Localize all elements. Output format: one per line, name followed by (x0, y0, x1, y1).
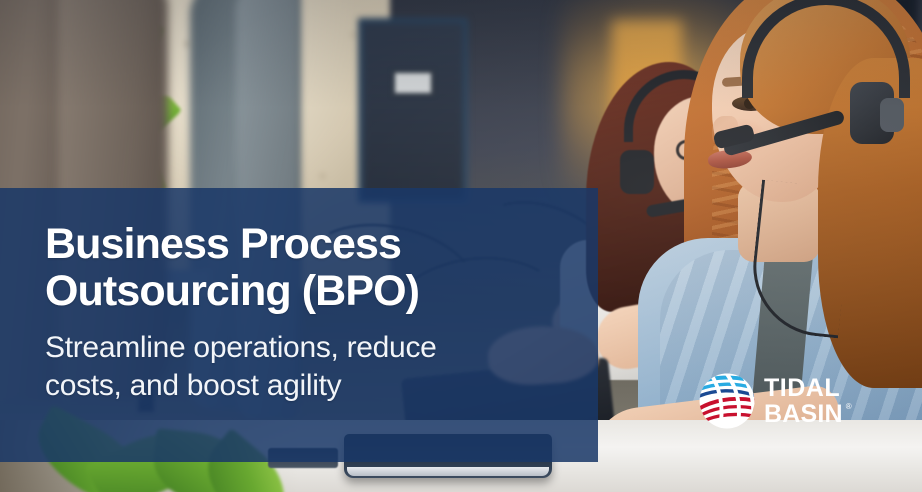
logo-line-tidal: TIDAL (764, 375, 843, 401)
office-door (358, 18, 468, 203)
tidal-basin-globe-icon (699, 373, 755, 429)
page-title: Business Process Outsourcing (BPO) (45, 221, 585, 315)
logo-line-basin-text: BASIN (764, 400, 843, 428)
page-subtitle: Streamline operations, reduce costs, and… (45, 329, 585, 405)
tidal-basin-logo[interactable]: TIDAL BASIN® (699, 373, 843, 429)
wall-picture (392, 70, 434, 96)
logo-line-basin: BASIN® (764, 401, 843, 427)
headset-earcup (620, 150, 654, 194)
bpo-hero-banner: Business Process Outsourcing (BPO) Strea… (0, 0, 922, 492)
registered-trademark-icon: ® (846, 403, 852, 411)
logo-wordmark: TIDAL BASIN® (764, 375, 843, 427)
headset-earcup-detail (880, 98, 904, 132)
hero-text-block: Business Process Outsourcing (BPO) Strea… (45, 221, 585, 405)
